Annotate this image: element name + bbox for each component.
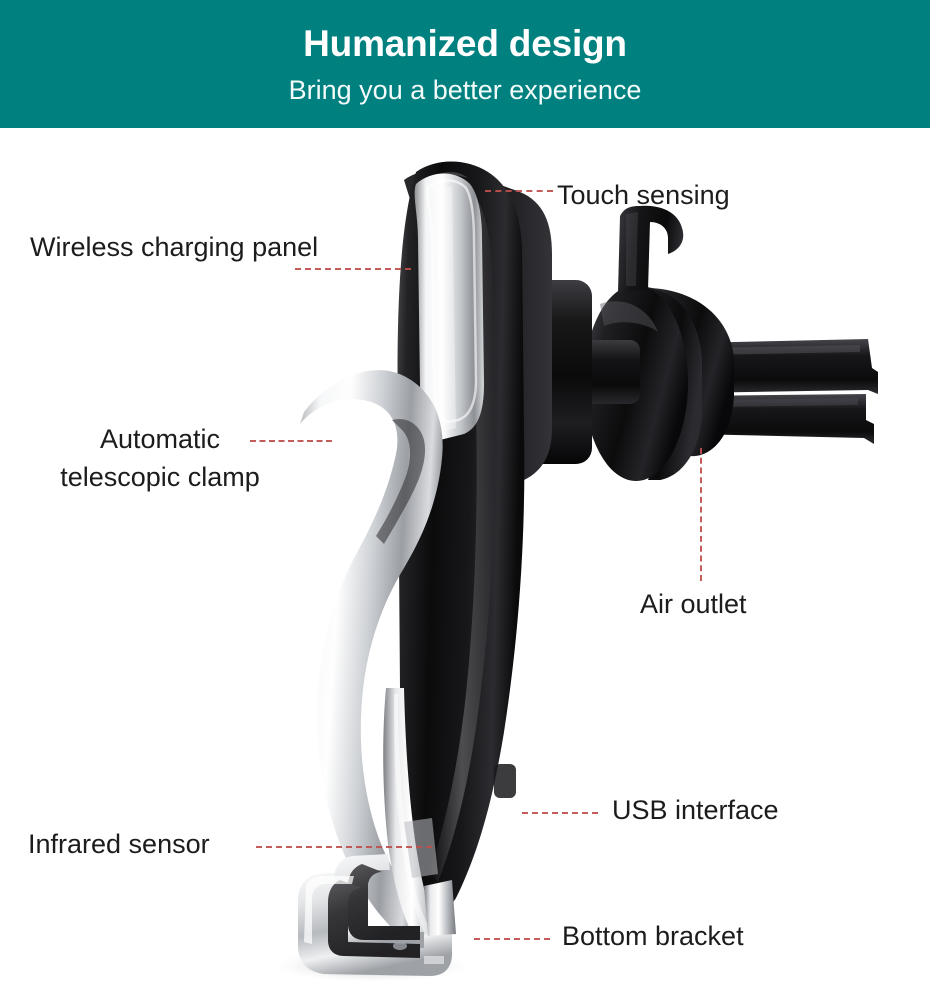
product-infographic-page: Humanized design Bring you a better expe… (0, 0, 930, 998)
callout-wireless-charging-panel: Wireless charging panel (30, 228, 318, 266)
leader-wireless-charging-panel (295, 268, 411, 270)
callout-air-outlet: Air outlet (640, 585, 747, 623)
callout-infrared-sensor: Infrared sensor (28, 825, 210, 863)
page-subtitle: Bring you a better experience (0, 74, 930, 106)
leader-usb-interface (522, 812, 598, 814)
callout-telescopic-clamp-line2: telescopic clamp (30, 458, 290, 496)
callout-bottom-bracket: Bottom bracket (562, 917, 744, 955)
callout-telescopic-clamp-line1: Automatic (100, 424, 220, 454)
usb-interface (494, 764, 516, 798)
leader-touch-sensing (485, 190, 553, 192)
bracket-stem (424, 880, 456, 936)
leader-bottom-bracket (474, 938, 550, 940)
callout-touch-sensing: Touch sensing (557, 176, 730, 214)
callout-telescopic-clamp: Automatic telescopic clamp (30, 420, 290, 496)
callout-usb-interface: USB interface (612, 791, 779, 829)
header-banner: Humanized design Bring you a better expe… (0, 0, 930, 128)
leader-air-outlet (700, 448, 702, 581)
page-title: Humanized design (0, 22, 930, 66)
leader-infrared-sensor (256, 846, 432, 848)
